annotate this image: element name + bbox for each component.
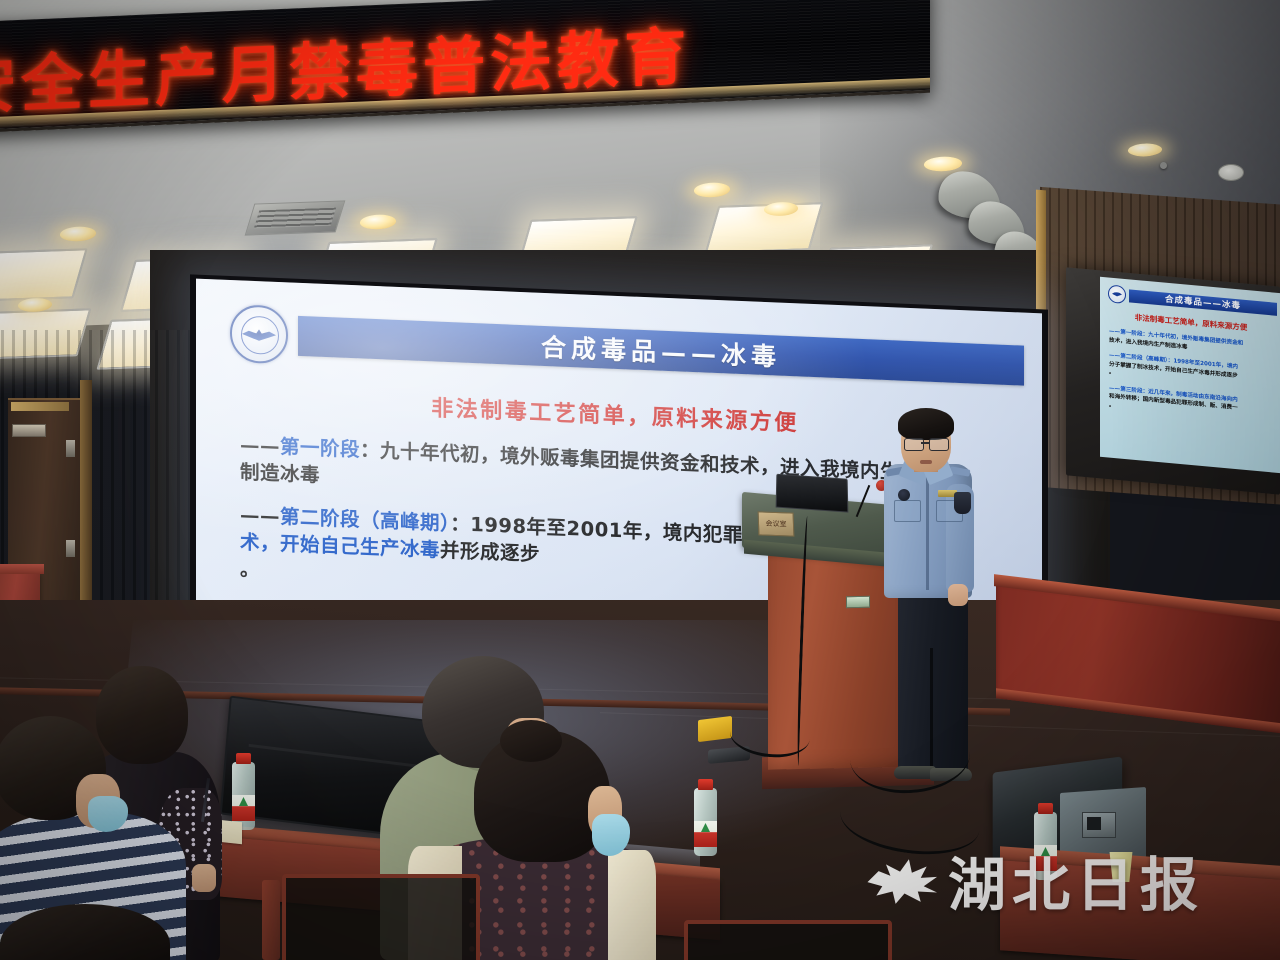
presenter-mouth — [920, 460, 932, 464]
presenter-pocket-left — [894, 500, 921, 522]
door-transom — [11, 402, 69, 411]
presenter-shoulder-patch — [954, 492, 971, 514]
stage-monitor-connector-panel — [1082, 812, 1116, 838]
slide-title-bar: 合成毒品——冰毒 — [298, 316, 1024, 386]
water-bottle[interactable] — [232, 762, 255, 830]
ac-vent — [245, 200, 346, 235]
laptop[interactable] — [776, 474, 849, 513]
bottle-label — [232, 795, 255, 821]
presenter-glasses-right-lens — [929, 438, 949, 451]
conference-hall-scene: 安全生产月禁毒普法教育 合成毒品——冰毒 非法制毒工艺简单，原料来源方便 — [0, 0, 1280, 960]
para2-marker: —— — [240, 503, 280, 528]
chair-back — [282, 874, 480, 960]
side-monitor-title: 合成毒品——冰毒 — [1165, 293, 1241, 312]
audience-front-row — [0, 904, 180, 960]
podium-nameplate: 会议室 — [758, 511, 795, 536]
para2-text-b: 并形成逐步 — [440, 538, 540, 565]
audience-hand-with-pen — [192, 864, 216, 892]
emblem-wing-shape — [242, 328, 276, 342]
para1-stage-label: 第一阶段 — [280, 435, 360, 461]
sprinkler-head — [1160, 162, 1167, 169]
presenter-glasses-left-lens — [904, 438, 924, 451]
podium-label-plate — [846, 596, 870, 609]
audience-head — [0, 904, 170, 960]
para1-colon: ： — [360, 438, 380, 462]
anti-drug-police-emblem-icon — [230, 304, 288, 364]
slide-title: 合成毒品——冰毒 — [541, 328, 781, 374]
para2-colon: ： — [450, 512, 470, 536]
audience-blouse-collar-r — [608, 850, 656, 960]
side-monitor-title-bar: 合成毒品——冰毒 — [1129, 289, 1277, 315]
presenter-hair — [898, 408, 954, 440]
para2-stage-label: 第二阶段（高峰期） — [280, 505, 450, 535]
para1-marker: —— — [240, 433, 280, 458]
bottle-cap — [236, 753, 251, 764]
presenter-shirt-placket — [926, 470, 929, 590]
smoke-detector — [1218, 164, 1244, 181]
chair-back — [684, 920, 892, 960]
presenter-chest-emblem — [898, 489, 910, 501]
slide-header: 合成毒品——冰毒 — [230, 304, 1024, 395]
presenter-glasses-bridge — [921, 442, 930, 444]
chair-armrest — [262, 880, 280, 960]
water-bottle[interactable] — [694, 788, 717, 856]
bottle-cap — [698, 779, 713, 790]
door-sign-plate — [12, 424, 46, 437]
bottle-label — [694, 821, 717, 847]
ceiling-panel-light — [0, 248, 88, 301]
water-bottle[interactable] — [1034, 812, 1057, 880]
bottle-label — [1034, 845, 1057, 871]
side-monitor-screen: 合成毒品——冰毒 非法制毒工艺简单，原料来源方便 ——第一阶段：九十年代初，境外… — [1100, 277, 1280, 474]
bottle-cap — [1038, 803, 1053, 814]
presenter-hand — [948, 584, 968, 606]
side-monitor-content: 合成毒品——冰毒 非法制毒工艺简单，原料来源方便 ——第一阶段：九十年代初，境外… — [1100, 277, 1280, 474]
side-emblem-icon — [1108, 284, 1126, 304]
audience-hair-bun — [500, 720, 562, 762]
door-hinge — [66, 540, 75, 557]
door-hinge — [66, 440, 75, 457]
yellow-cable-protector — [698, 716, 732, 742]
